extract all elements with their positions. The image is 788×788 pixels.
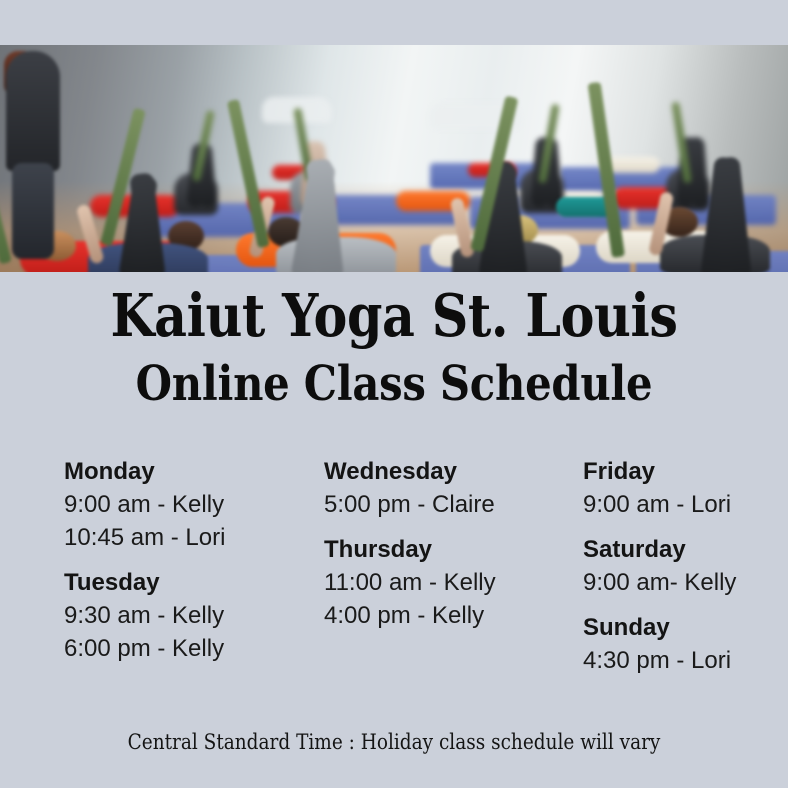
- schedule-column-two: Wednesday 5:00 pm - Claire Thursday 11:0…: [324, 455, 574, 644]
- day-name-monday: Monday: [64, 455, 314, 488]
- footer-note: Central Standard Time : Holiday class sc…: [47, 730, 740, 754]
- day-block-friday: Friday 9:00 am - Lori: [583, 455, 788, 521]
- page-subtitle: Online Class Schedule: [51, 356, 737, 412]
- day-block-wednesday: Wednesday 5:00 pm - Claire: [324, 455, 574, 521]
- class-time-tuesday-1: 9:30 am - Kelly: [64, 599, 314, 632]
- class-schedule: Monday 9:00 am - Kelly 10:45 am - Lori T…: [0, 455, 788, 690]
- day-block-tuesday: Tuesday 9:30 am - Kelly 6:00 pm - Kelly: [64, 566, 314, 665]
- schedule-column-one: Monday 9:00 am - Kelly 10:45 am - Lori T…: [64, 455, 314, 677]
- class-time-tuesday-2: 6:00 pm - Kelly: [64, 632, 314, 665]
- day-block-saturday: Saturday 9:00 am- Kelly: [583, 533, 788, 599]
- class-time-sunday-1: 4:30 pm - Lori: [583, 644, 788, 677]
- page-title: Kaiut Yoga St. Louis: [55, 281, 733, 350]
- day-name-tuesday: Tuesday: [64, 566, 314, 599]
- class-time-monday-2: 10:45 am - Lori: [64, 521, 314, 554]
- class-time-thursday-2: 4:00 pm - Kelly: [324, 599, 574, 632]
- class-time-monday-1: 9:00 am - Kelly: [64, 488, 314, 521]
- instructor-legs: [12, 163, 54, 259]
- class-time-wednesday-1: 5:00 pm - Claire: [324, 488, 574, 521]
- schedule-column-three: Friday 9:00 am - Lori Saturday 9:00 am- …: [583, 455, 788, 689]
- day-block-thursday: Thursday 11:00 am - Kelly 4:00 pm - Kell…: [324, 533, 574, 632]
- yoga-class-photo: [0, 45, 788, 272]
- class-time-friday-1: 9:00 am - Lori: [583, 488, 788, 521]
- class-schedule-poster: Kaiut Yoga St. Louis Online Class Schedu…: [0, 0, 788, 788]
- day-name-friday: Friday: [583, 455, 788, 488]
- standing-instructor: [4, 51, 74, 271]
- day-block-sunday: Sunday 4:30 pm - Lori: [583, 611, 788, 677]
- day-block-monday: Monday 9:00 am - Kelly 10:45 am - Lori: [64, 455, 314, 554]
- day-name-sunday: Sunday: [583, 611, 788, 644]
- day-name-saturday: Saturday: [583, 533, 788, 566]
- day-name-wednesday: Wednesday: [324, 455, 574, 488]
- instructor-torso: [6, 51, 60, 171]
- class-time-thursday-1: 11:00 am - Kelly: [324, 566, 574, 599]
- day-name-thursday: Thursday: [324, 533, 574, 566]
- class-time-saturday-1: 9:00 am- Kelly: [583, 566, 788, 599]
